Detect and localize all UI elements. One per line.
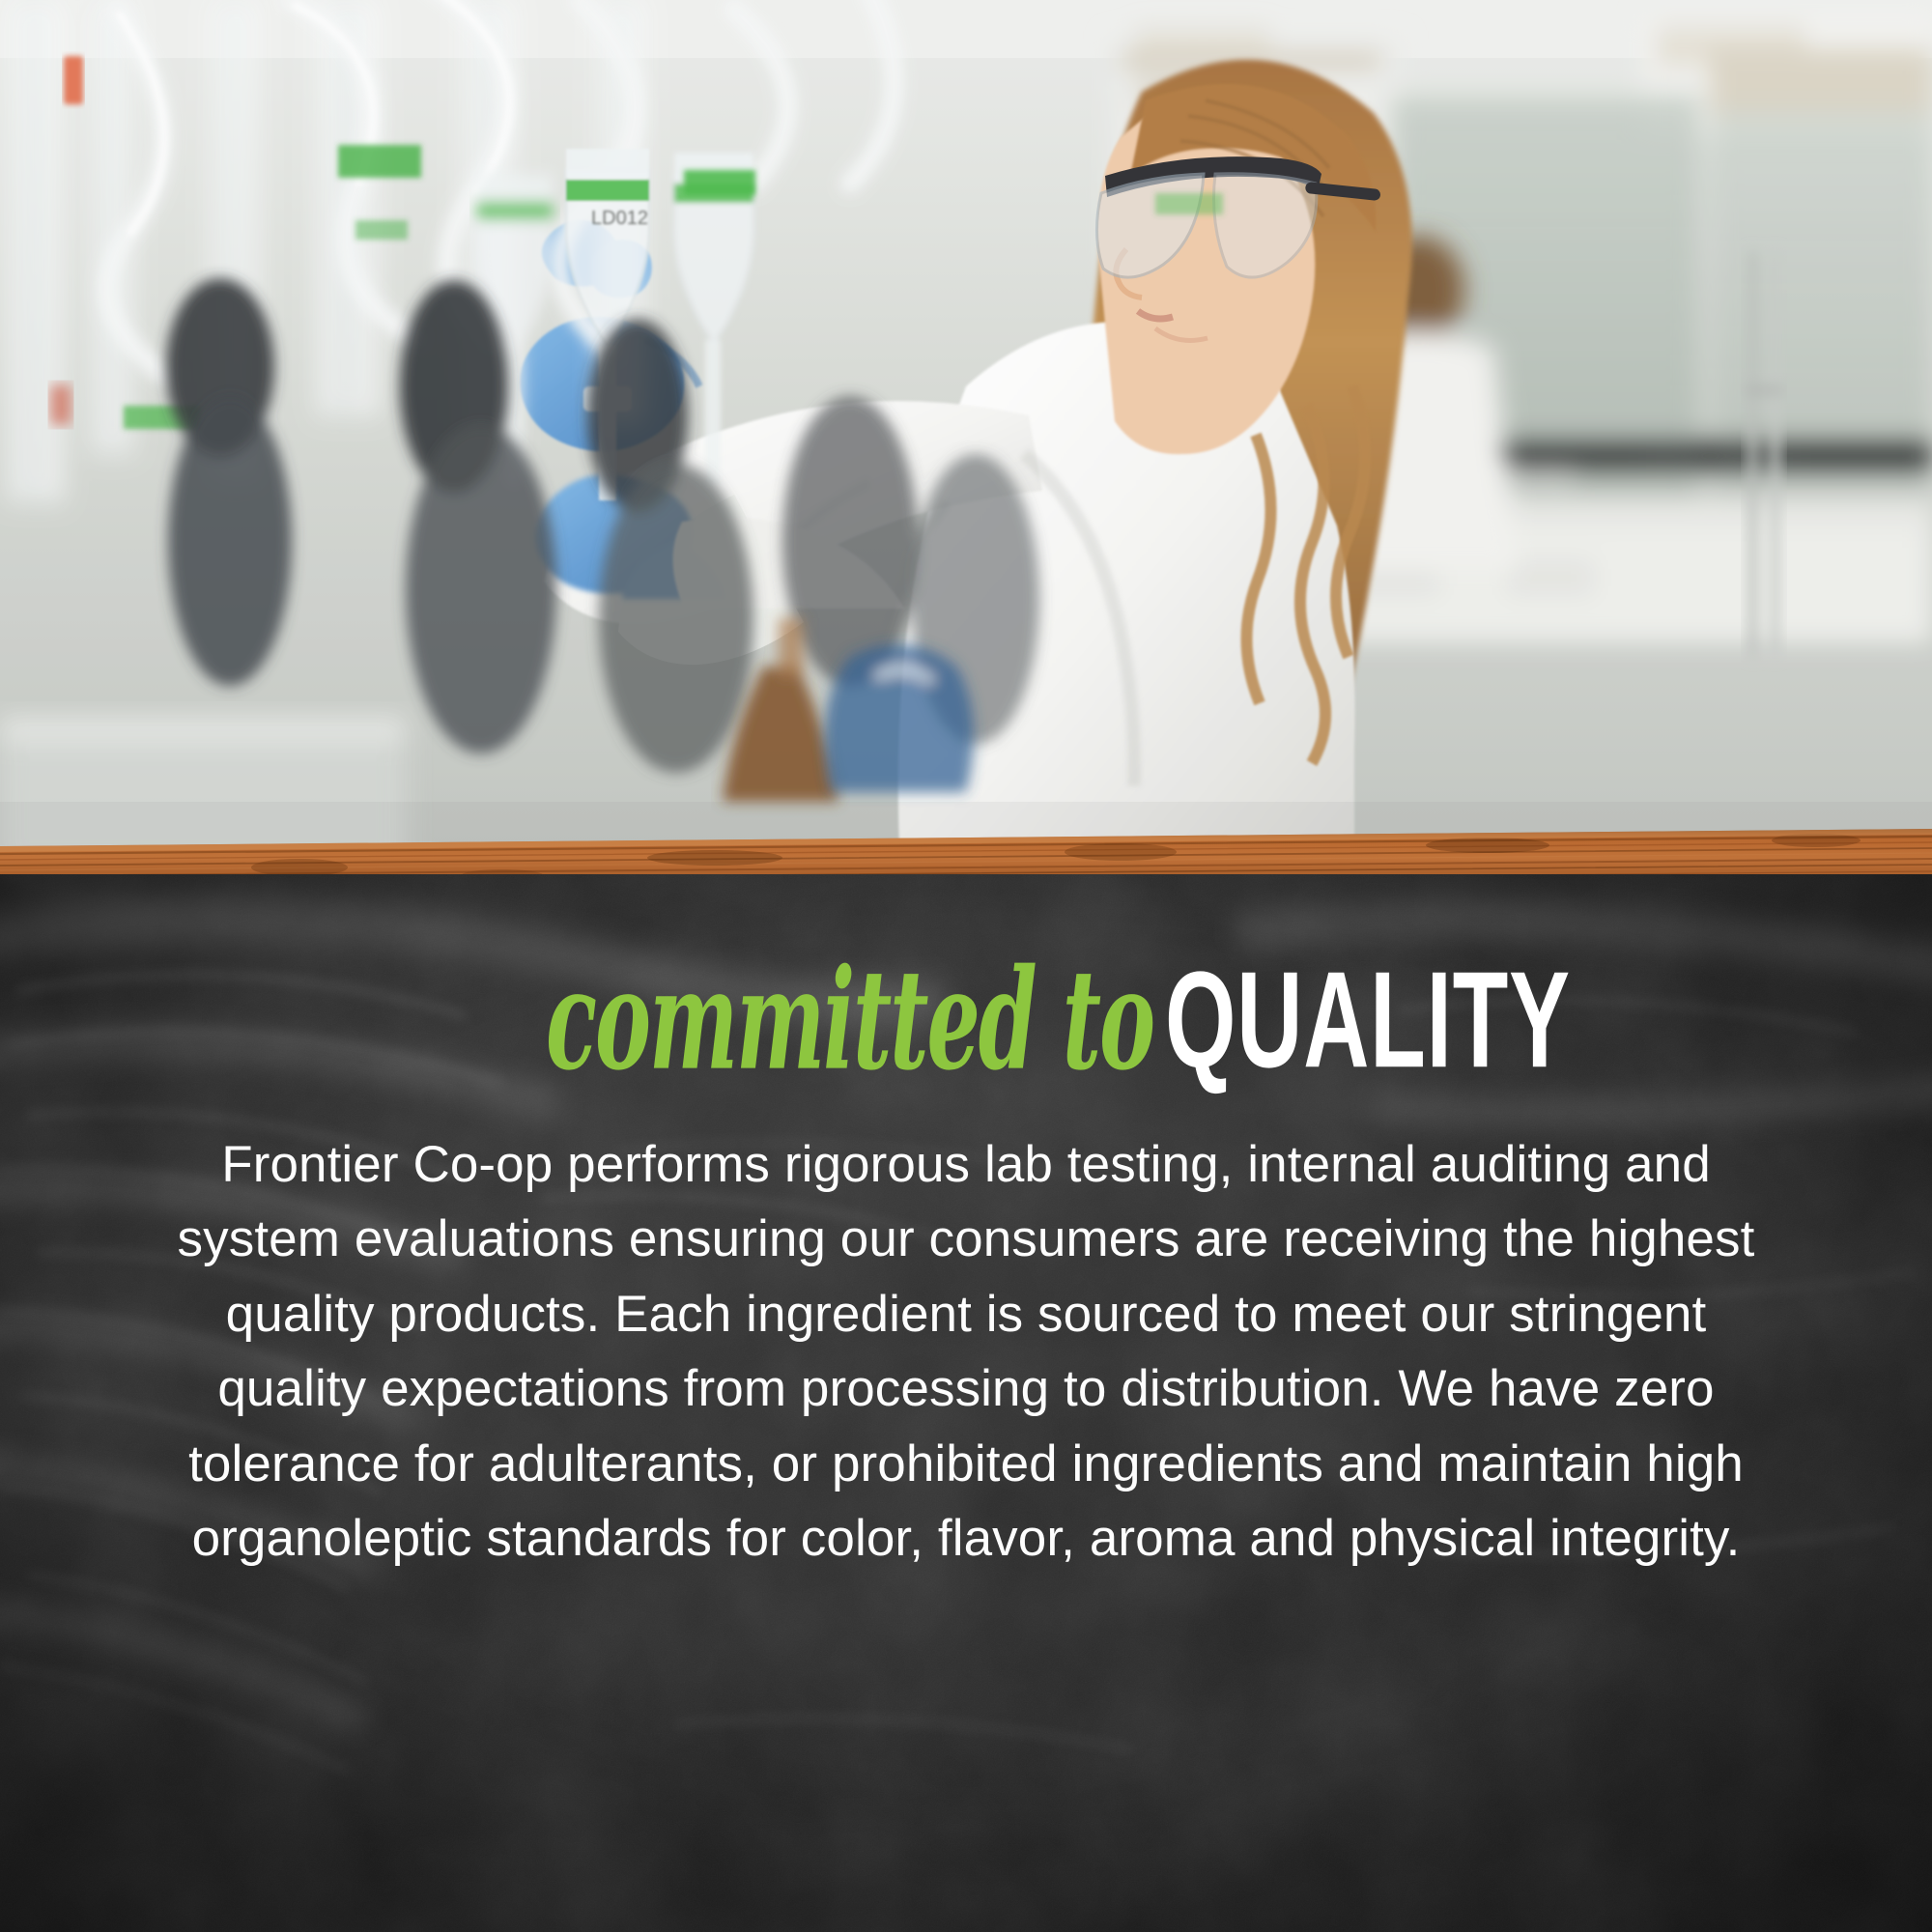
body-paragraph: Frontier Co-op performs rigorous lab tes…: [145, 1127, 1787, 1576]
lab-photo: LD012: [0, 0, 1932, 869]
lab-photo-illustration: LD012: [0, 0, 1932, 869]
promo-card: LD012: [0, 0, 1932, 1932]
chalkboard-panel: committed toQUALITY Frontier Co-op perfo…: [0, 874, 1932, 1932]
headline-bold-part: QUALITY: [1165, 952, 1571, 1089]
headline-script-part: committed to: [546, 952, 1153, 1090]
board-content: committed toQUALITY Frontier Co-op perfo…: [0, 874, 1932, 1932]
page-headline: committed toQUALITY: [0, 966, 1932, 1090]
